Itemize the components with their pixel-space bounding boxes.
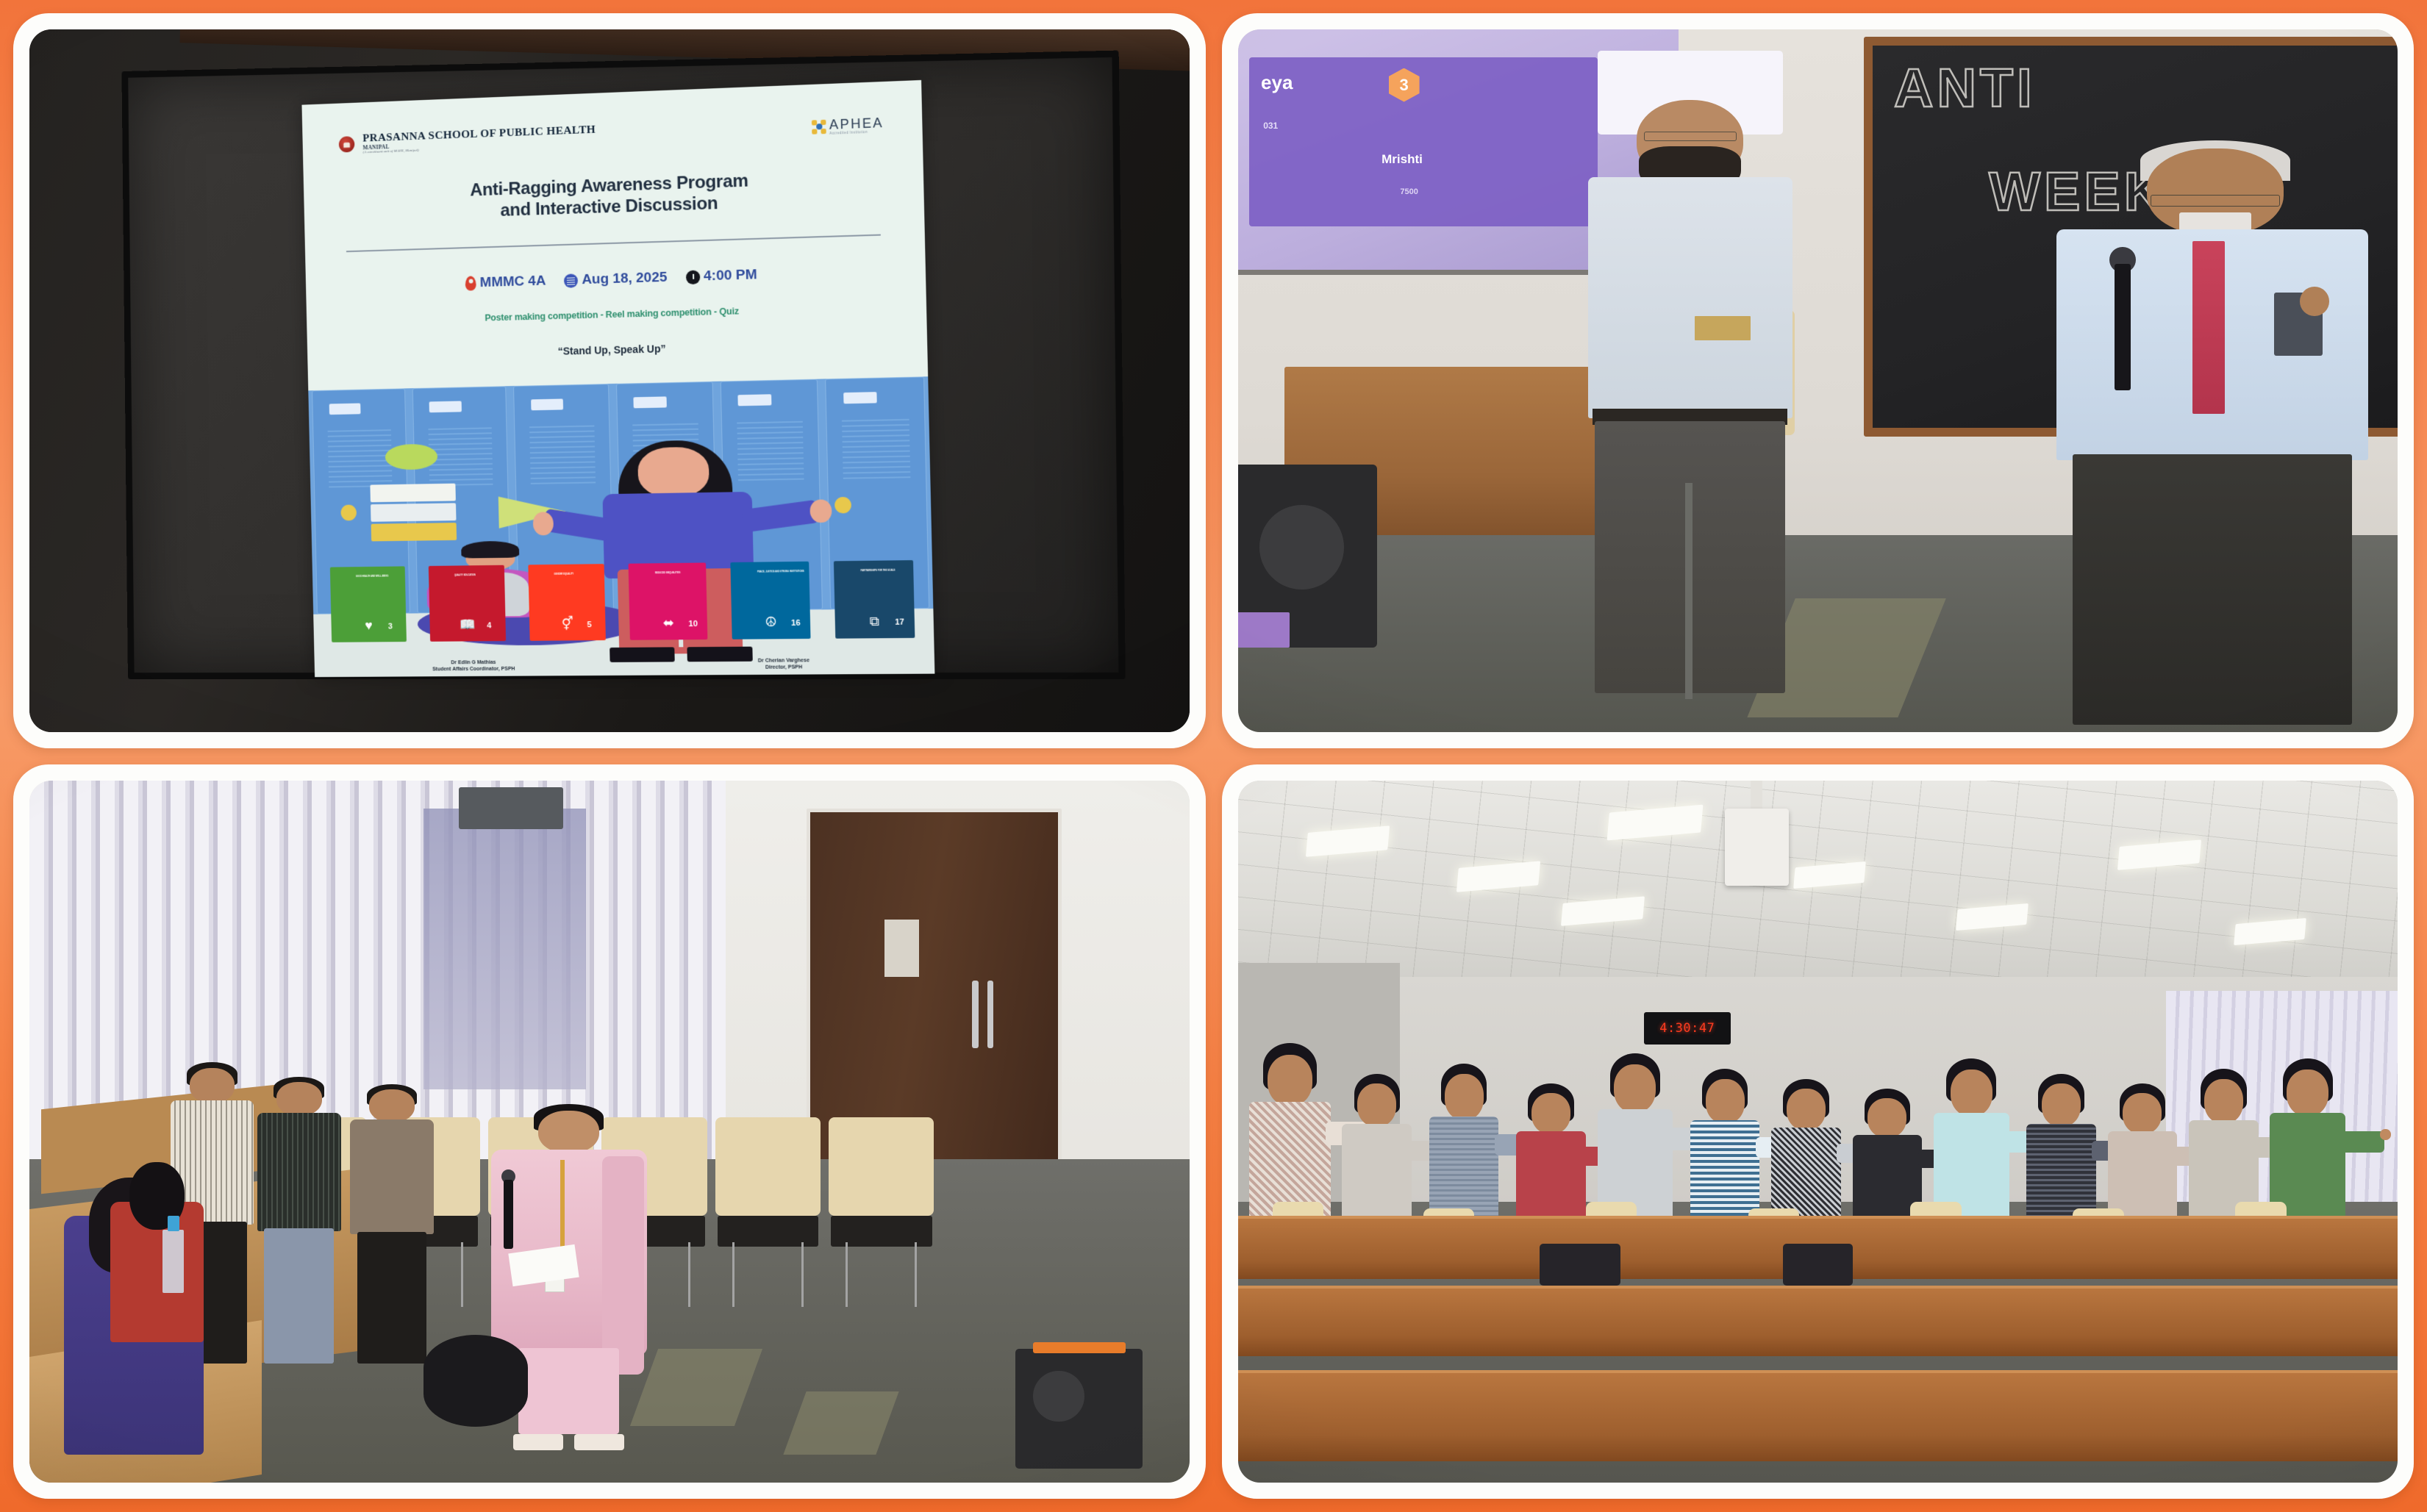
poster-brand-row: PRASANNA SCHOOL OF PUBLIC HEALTH MANIPAL… bbox=[338, 113, 884, 156]
person-student-standing bbox=[256, 1082, 343, 1363]
door-handle[interactable] bbox=[987, 981, 994, 1049]
poster-slogan: “Stand Up, Speak Up” bbox=[343, 337, 889, 362]
sdg-label: Peace, justice and strong institutions bbox=[757, 570, 804, 573]
person-student-standing bbox=[348, 1089, 435, 1364]
poster-date-text: Aug 18, 2025 bbox=[582, 270, 668, 288]
poster-illustration: 3 Good health and well-being ♥ 4 Quality… bbox=[308, 376, 934, 677]
sdg-badge: 4 Quality education 📖 bbox=[429, 565, 506, 642]
poster-meta-row: MMMC 4A Aug 18, 2025 4:00 PM bbox=[341, 263, 887, 295]
sdg-badge: 16 Peace, justice and strong institution… bbox=[730, 562, 810, 640]
aphea-mark-icon bbox=[812, 119, 826, 134]
sdg-goal-row: 3 Good health and well-being ♥ 4 Quality… bbox=[330, 560, 915, 642]
stool bbox=[423, 1335, 528, 1426]
ceiling-projector bbox=[459, 787, 563, 829]
sdg-glyph-icon: ⬌ bbox=[662, 616, 674, 629]
photo-projected-poster: PRASANNA SCHOOL OF PUBLIC HEALTH MANIPAL… bbox=[29, 29, 1190, 732]
bench-desk-row bbox=[1238, 1370, 2398, 1461]
poster-time: 4:00 PM bbox=[685, 267, 757, 285]
leaderboard-rank-name: Mrishti bbox=[1382, 152, 1423, 167]
leaderboard-player-name: eya bbox=[1261, 71, 1293, 94]
pa-speaker-box bbox=[1015, 1349, 1143, 1468]
sdg-number: 5 bbox=[587, 622, 606, 629]
photo-frame-top-left: PRASANNA SCHOOL OF PUBLIC HEALTH MANIPAL… bbox=[13, 13, 1206, 748]
poster-title: Anti-Ragging Awareness Program and Inter… bbox=[340, 166, 886, 227]
photo-seminar-room bbox=[29, 781, 1190, 1483]
credit-right-name: Dr Cherian Varghese bbox=[757, 657, 809, 664]
sdg-label: Quality education bbox=[454, 574, 500, 577]
lanyard bbox=[560, 1160, 565, 1259]
name-badge bbox=[1695, 316, 1751, 341]
audience-crowd bbox=[1238, 1012, 2398, 1251]
credit-left-name: Dr Edlin G Mathias bbox=[432, 659, 515, 666]
person-senior-speaker bbox=[2050, 148, 2375, 725]
speaker-label-tag bbox=[1238, 612, 1290, 648]
window-view bbox=[423, 809, 586, 1089]
credit-left-role: Student Affairs Coordinator, PSPH bbox=[432, 666, 515, 673]
aphea-wordmark: APHEA bbox=[829, 115, 883, 131]
sdg-label: Gender equality bbox=[554, 573, 600, 576]
photo-collage: PRASANNA SCHOOL OF PUBLIC HEALTH MANIPAL… bbox=[0, 0, 2427, 1512]
photo-frame-bottom-left bbox=[13, 764, 1206, 1500]
credit-right-role: Director, PSPH bbox=[758, 664, 809, 672]
photo-faculty-speakers: eya 031 3 Mrishti 7500 ANTI WEEK bbox=[1238, 29, 2398, 732]
sdg-badge: 5 Gender equality ⚥ bbox=[528, 564, 606, 641]
sdg-label: Good health and well-being bbox=[356, 576, 401, 578]
photo-lecture-hall-pledge: 4:30:47 bbox=[1238, 781, 2398, 1483]
poster-venue: MMMC 4A bbox=[465, 273, 546, 292]
poster-divider bbox=[346, 234, 881, 253]
poster-activities: Poster making competition - Reel making … bbox=[343, 302, 888, 327]
event-poster: PRASANNA SCHOOL OF PUBLIC HEALTH MANIPAL… bbox=[301, 80, 934, 677]
photo-frame-bottom-right: 4:30:47 bbox=[1222, 764, 2415, 1500]
sdg-glyph-icon: ⧉ bbox=[869, 615, 879, 628]
water-bottle bbox=[162, 1230, 183, 1293]
ceiling-projector bbox=[1725, 809, 1789, 886]
sdg-badge: 10 Reduced inequalities ⬌ bbox=[629, 562, 708, 640]
aphea-logo: APHEA Accredited Institution bbox=[812, 115, 884, 135]
leaderboard-rank-score: 7500 bbox=[1400, 187, 1418, 196]
chair bbox=[715, 1117, 821, 1307]
leaderboard-player-score-partial: 031 bbox=[1263, 121, 1278, 131]
quiz-leaderboard-panel bbox=[1249, 57, 1597, 226]
equipment-handle bbox=[1033, 1342, 1126, 1353]
clock-icon bbox=[685, 270, 700, 284]
poster-date: Aug 18, 2025 bbox=[564, 270, 668, 289]
person-seated-attendee bbox=[110, 1202, 203, 1342]
sdg-label: Partnerships for the goals bbox=[860, 570, 908, 573]
door-handle[interactable] bbox=[972, 981, 979, 1049]
bench-desk-row bbox=[1238, 1286, 2398, 1356]
sdg-badge: 17 Partnerships for the goals ⧉ bbox=[834, 560, 915, 639]
necktie bbox=[2192, 241, 2225, 414]
eyeglasses-icon bbox=[1644, 132, 1737, 141]
sdg-badge: 3 Good health and well-being ♥ bbox=[330, 566, 407, 642]
sdg-glyph-icon: 📖 bbox=[459, 617, 475, 631]
calendar-icon bbox=[564, 273, 578, 287]
chair bbox=[829, 1117, 934, 1307]
eyeglasses-icon bbox=[2151, 195, 2281, 207]
sdg-glyph-icon: ☮ bbox=[765, 615, 777, 628]
sdg-number: 10 bbox=[688, 621, 707, 628]
sdg-glyph-icon: ♥ bbox=[365, 619, 373, 632]
sdg-number: 16 bbox=[791, 620, 810, 628]
sdg-number: 17 bbox=[895, 620, 914, 627]
location-pin-icon bbox=[465, 276, 476, 291]
blackboard-text-line1: ANTI bbox=[1894, 57, 2036, 119]
person-faculty-standing bbox=[1574, 100, 1806, 718]
poster-venue-text: MMMC 4A bbox=[479, 273, 546, 291]
sdg-glyph-icon: ⚥ bbox=[561, 617, 573, 630]
photo-frame-top-right: eya 031 3 Mrishti 7500 ANTI WEEK bbox=[1222, 13, 2415, 748]
sdg-number: 3 bbox=[387, 623, 406, 631]
sdg-label: Reduced inequalities bbox=[655, 572, 701, 575]
books-and-apple-graphic bbox=[370, 462, 456, 539]
sdg-number: 4 bbox=[487, 623, 505, 630]
psph-seal-icon bbox=[338, 136, 354, 152]
poster-time-text: 4:00 PM bbox=[703, 267, 757, 284]
